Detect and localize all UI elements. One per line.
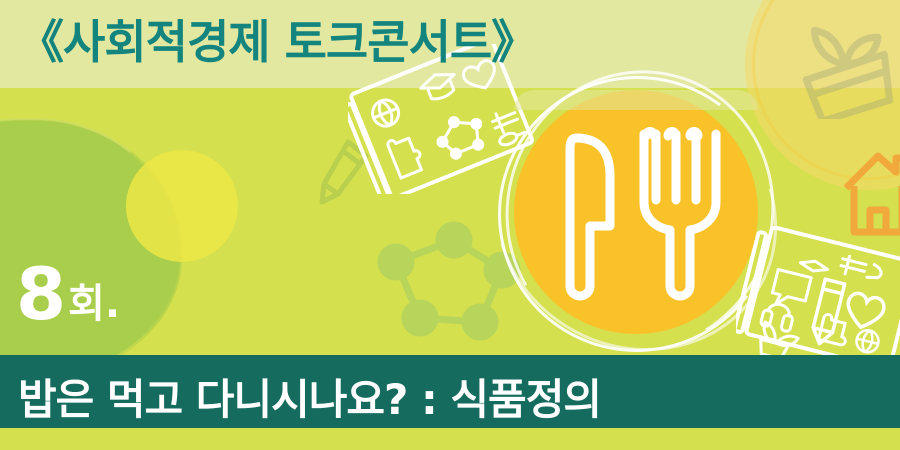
knife-and-fork-icon xyxy=(514,90,758,334)
brush-circle-decoration xyxy=(0,120,180,380)
pencil-icon xyxy=(316,136,376,211)
promotional-banner: 《사회적경제 토크콘서트》 8회. 밥은 먹고 다니시나요? : 식품정의 xyxy=(0,0,900,450)
episode-label: 8회. xyxy=(16,258,120,330)
sprout-in-pot-icon xyxy=(790,14,900,119)
brush-circle-edge-decoration xyxy=(0,118,182,382)
episode-unit: 회. xyxy=(68,281,120,327)
house-icon xyxy=(842,148,900,240)
yellow-circle-decoration xyxy=(126,150,238,262)
banner-subtitle: 밥은 먹고 다니시나요? : 식품정의 xyxy=(18,366,601,427)
food-medallion xyxy=(492,68,782,358)
episode-number: 8 xyxy=(16,252,66,336)
banner-title: 《사회적경제 토크콘서트》 xyxy=(18,6,536,72)
